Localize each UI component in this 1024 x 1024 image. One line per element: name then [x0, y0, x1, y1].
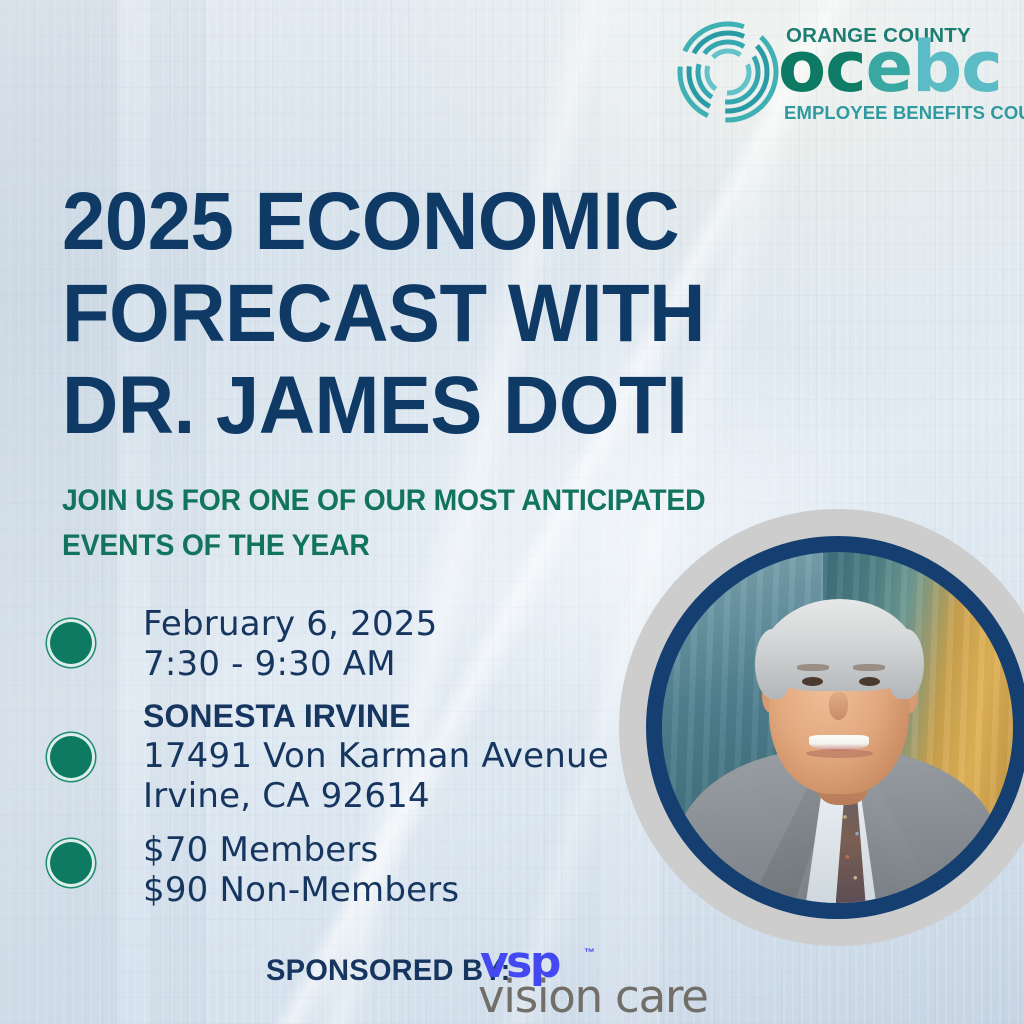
- venue-address-line-2: Irvine, CA 92614: [143, 776, 609, 816]
- photo-eye-left: [802, 677, 823, 686]
- teal-dot-icon: [50, 736, 92, 778]
- subtitle-line-1: JOIN US FOR ONE OF OUR MOST ANTICIPATED: [62, 478, 840, 523]
- speaker-photo-illustration: [662, 552, 1013, 903]
- logo-letter-e: e: [866, 36, 912, 98]
- photo-eye-right: [859, 677, 880, 686]
- teal-dot-icon: [50, 622, 92, 664]
- detail-date-text: February 6, 2025 7:30 - 9:30 AM: [143, 604, 437, 684]
- photo-hair-side-left: [755, 629, 790, 699]
- headline-line-2: FORECAST WITH: [62, 268, 822, 360]
- price-non-members: $90 Non-Members: [143, 870, 459, 910]
- vsp-vision-care-logo: vsp ™ vision care: [480, 941, 730, 1024]
- logo-letter-c: c: [825, 36, 866, 98]
- avatar: [662, 552, 1013, 903]
- speaker-portrait-inner-ring: [646, 536, 1024, 919]
- ocebc-logotype: ORANGE COUNTY ocebc EMPLOYEE BENEFITS CO…: [780, 18, 1012, 126]
- logo-bottom-text: EMPLOYEE BENEFITS COUNCIL: [784, 102, 1024, 124]
- vsp-tagline: vision care: [478, 973, 708, 1021]
- sponsor-section: SPONSORED BY: vsp ™ vision care: [266, 947, 736, 1024]
- page-title: 2025 ECONOMIC FORECAST WITH DR. JAMES DO…: [62, 176, 822, 452]
- trademark-icon: ™: [584, 947, 595, 959]
- photo-hair-side-right: [888, 629, 923, 699]
- teal-dot-icon: [50, 842, 92, 884]
- ocebc-logo: ORANGE COUNTY ocebc EMPLOYEE BENEFITS CO…: [676, 18, 1012, 126]
- event-flyer: ORANGE COUNTY ocebc EMPLOYEE BENEFITS CO…: [0, 0, 1024, 1024]
- logo-wordmark: ocebc: [778, 36, 1002, 98]
- detail-pricing-text: $70 Members $90 Non-Members: [143, 830, 459, 910]
- detail-date-line-2: 7:30 - 9:30 AM: [143, 644, 437, 684]
- photo-lower-lip: [806, 749, 873, 758]
- concentric-arcs-icon: [676, 20, 780, 124]
- logo-letter-b: b: [912, 36, 961, 98]
- headline-line-3: DR. JAMES DOTI: [62, 360, 822, 452]
- speaker-portrait-outer-ring: [619, 509, 1024, 946]
- logo-letter-o: o: [778, 36, 825, 98]
- photo-brow-left: [797, 664, 829, 671]
- detail-date-line-1: February 6, 2025: [143, 604, 437, 644]
- venue-name: SONESTA IRVINE: [143, 696, 609, 736]
- sponsor-label: SPONSORED BY:: [266, 954, 511, 988]
- venue-address-line-1: 17491 Von Karman Avenue: [143, 736, 609, 776]
- price-members: $70 Members: [143, 830, 459, 870]
- headline-line-1: 2025 ECONOMIC: [62, 176, 822, 268]
- detail-venue-text: SONESTA IRVINE 17491 Von Karman Avenue I…: [143, 696, 609, 816]
- photo-brow-right: [853, 664, 885, 671]
- logo-letter-c2: c: [961, 36, 1002, 98]
